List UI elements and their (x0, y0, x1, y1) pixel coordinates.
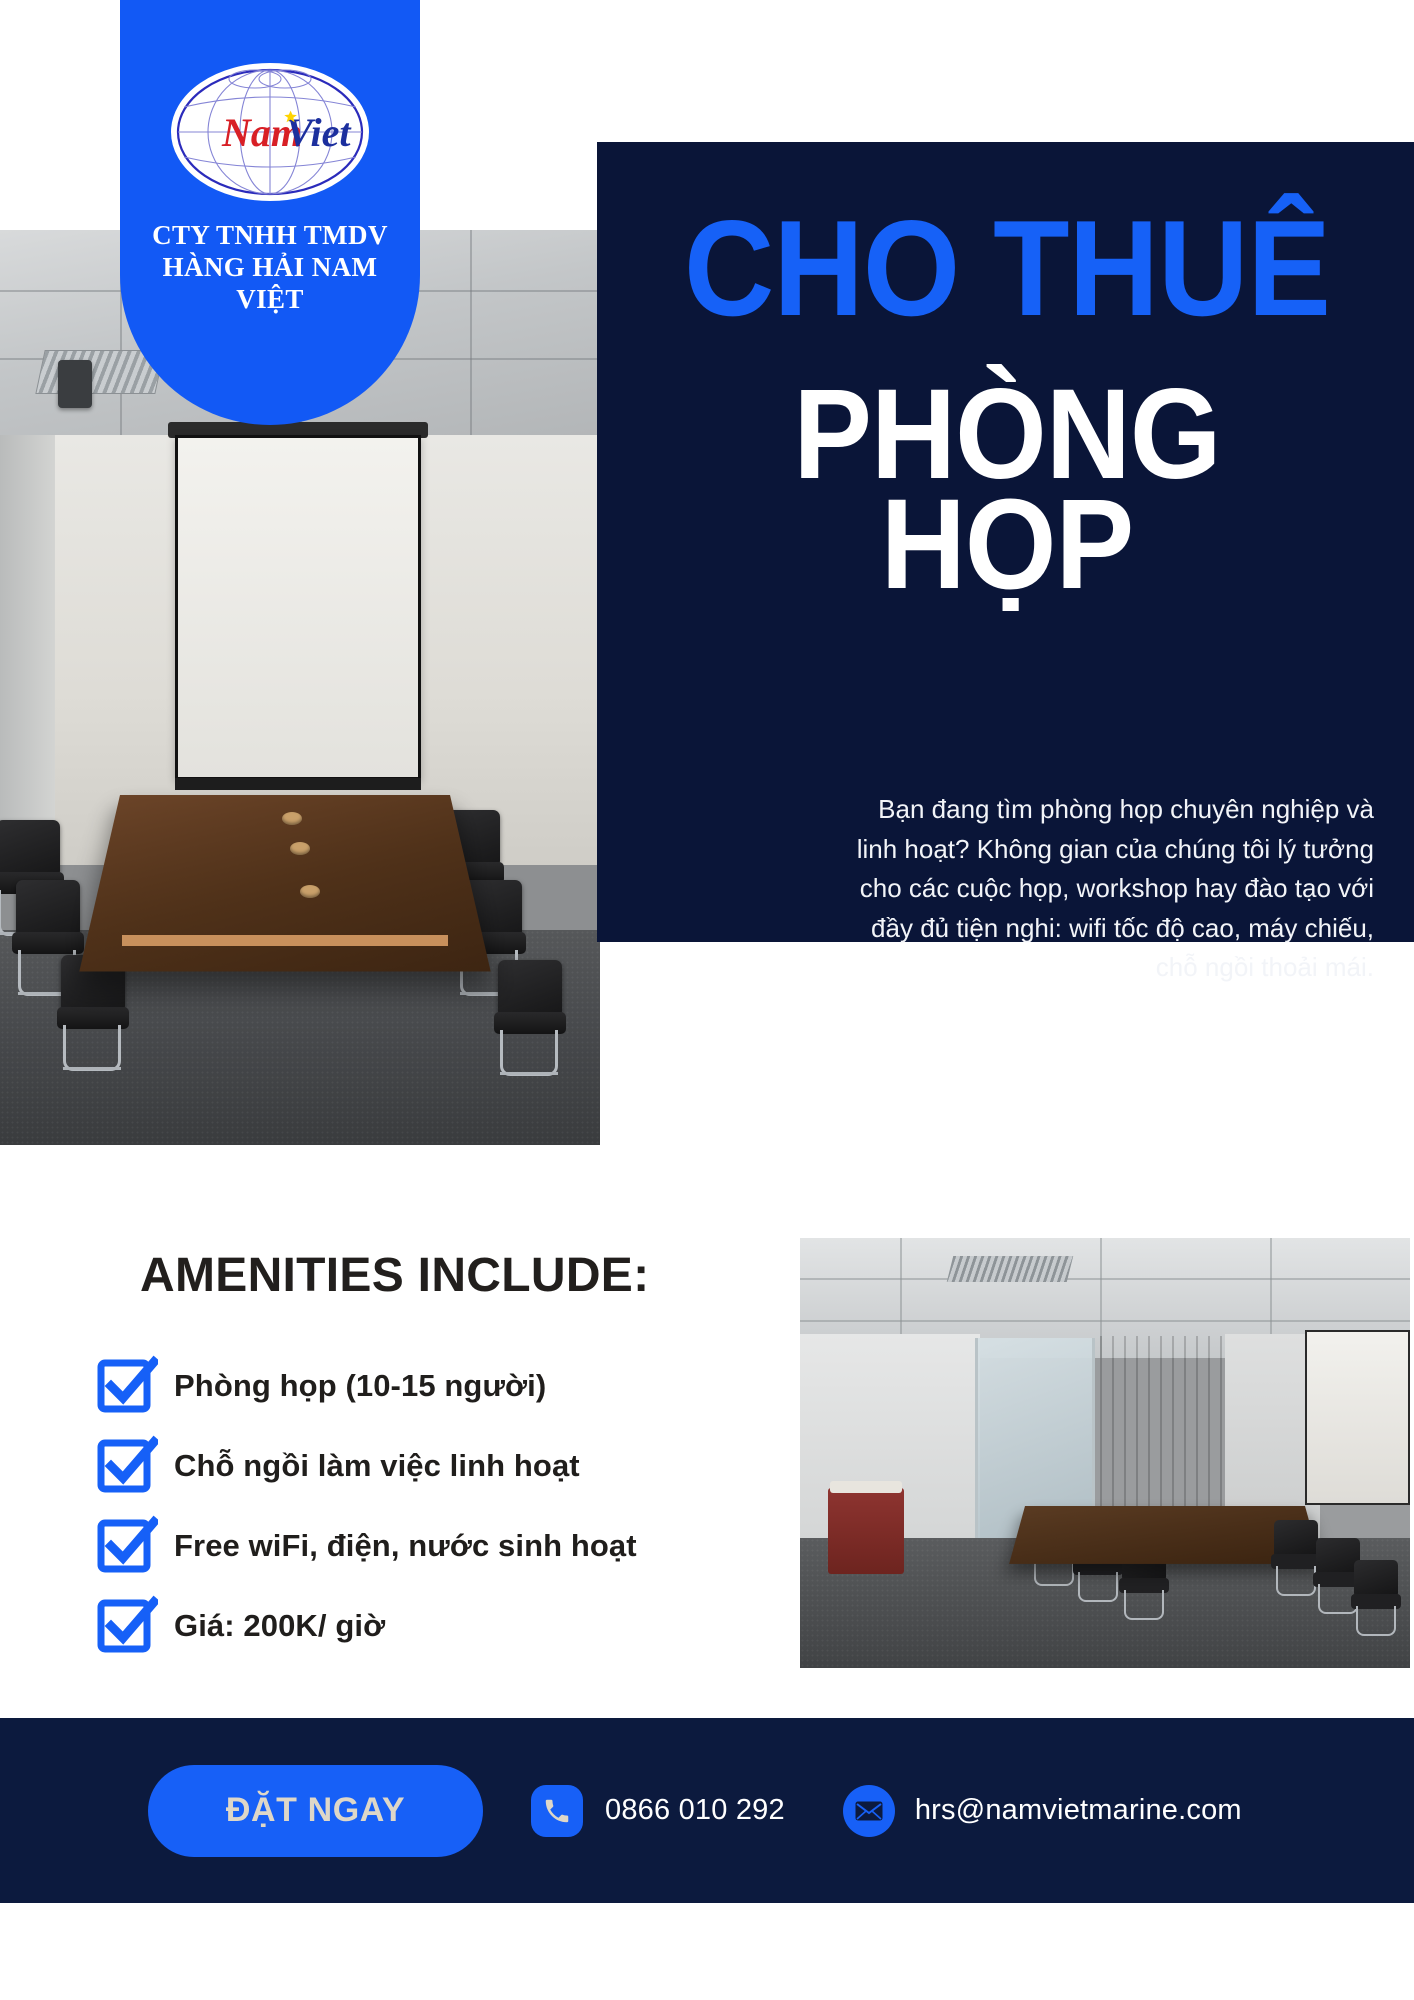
checkbox-checked-icon (98, 1599, 152, 1653)
hero-section: Nam Viet CTY TNHH TMDV HÀNG HẢI NAM VIỆT… (0, 0, 1414, 1190)
red-cabinet (828, 1488, 904, 1574)
wall-speaker (58, 360, 92, 408)
projector-screen-bar (175, 778, 421, 790)
book-now-button[interactable]: ĐẶT NGAY (148, 1765, 483, 1857)
brand-flag: Nam Viet CTY TNHH TMDV HÀNG HẢI NAM VIỆT (120, 0, 420, 425)
photo-wall-left (0, 435, 55, 865)
office-chair (1350, 1560, 1402, 1644)
headline-line1: CHO THUÊ (657, 210, 1356, 327)
contact-phone[interactable]: 0866 010 292 (531, 1785, 785, 1837)
email-address: hrs@namvietmarine.com (915, 1794, 1242, 1827)
office-chair (55, 955, 131, 1085)
company-name-line2: HÀNG HẢI NAM VIỆT (126, 252, 414, 316)
checkbox-checked-icon (98, 1519, 152, 1573)
footer-bar: ĐẶT NGAY 0866 010 292 hrs@namvietmarine.… (0, 1718, 1414, 1903)
hero-description: Bạn đang tìm phòng họp chuyên nghiệp và … (844, 790, 1374, 988)
contact-email[interactable]: hrs@namvietmarine.com (843, 1785, 1242, 1837)
table-grommet (290, 842, 310, 855)
amenities-title: AMENITIES INCLUDE: (140, 1248, 649, 1303)
amenity-item: Free wiFi, điện, nước sinh hoạt (98, 1520, 798, 1572)
red-cabinet-top (830, 1481, 902, 1493)
svg-text:Viet: Viet (286, 110, 352, 155)
amenities-list: Phòng họp (10-15 người) Chỗ ngồi làm việ… (98, 1360, 798, 1680)
ceiling-grid-line (800, 1320, 1410, 1322)
bottom-margin (0, 1903, 1414, 2000)
amenity-label: Giá: 200K/ giờ (174, 1608, 385, 1644)
checkbox-checked-icon (98, 1359, 152, 1413)
table-grommet (282, 812, 302, 825)
checkbox-checked-icon (98, 1439, 152, 1493)
amenity-item: Chỗ ngồi làm việc linh hoạt (98, 1440, 798, 1492)
phone-icon (531, 1785, 583, 1837)
phone-number: 0866 010 292 (605, 1794, 785, 1827)
headline-panel: CHO THUÊ PHÒNG HỌP Bạn đang tìm phòng họ… (597, 142, 1414, 942)
amenity-item: Phòng họp (10-15 người) (98, 1360, 798, 1412)
table-grommet (300, 885, 320, 898)
conference-table-edge (122, 935, 448, 946)
amenity-label: Phòng họp (10-15 người) (174, 1368, 546, 1404)
company-name: CTY TNHH TMDV HÀNG HẢI NAM VIỆT (120, 220, 420, 316)
projector-screen (175, 435, 421, 780)
office-chair (492, 960, 568, 1090)
ceiling-vent (947, 1256, 1073, 1282)
meeting-room-photo-bottom (800, 1238, 1410, 1668)
ceiling-grid-line (470, 230, 472, 445)
amenity-item: Giá: 200K/ giờ (98, 1600, 798, 1652)
amenity-label: Free wiFi, điện, nước sinh hoạt (174, 1528, 637, 1564)
nam-viet-globe-logo-icon: Nam Viet (170, 62, 370, 202)
envelope-icon (843, 1785, 895, 1837)
amenity-label: Chỗ ngồi làm việc linh hoạt (174, 1448, 580, 1484)
projector-screen (1305, 1330, 1410, 1505)
ceiling-grid-line (800, 1278, 1410, 1280)
headline-line2: PHÒNG HỌP (657, 380, 1356, 600)
company-name-line1: CTY TNHH TMDV (126, 220, 414, 252)
